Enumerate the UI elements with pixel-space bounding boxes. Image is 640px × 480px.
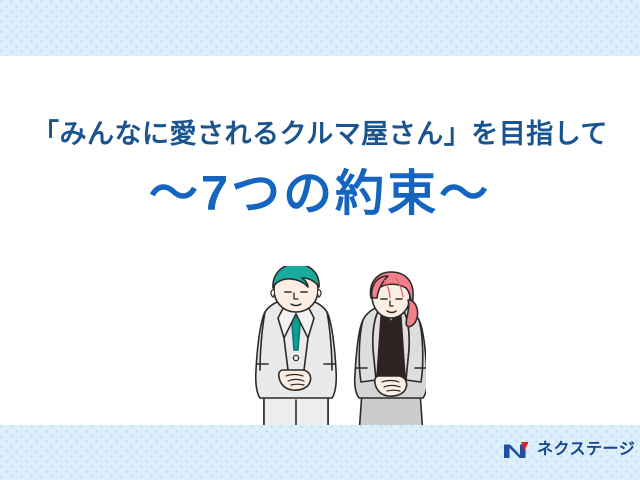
headline-secondary: 〜7つの約束〜	[0, 168, 640, 222]
nextage-n-mark-icon	[503, 440, 530, 460]
staff-illustration	[236, 266, 426, 442]
promise-banner: 「みんなに愛されるクルマ屋さん」を目指して 〜7つの約束〜	[0, 0, 640, 480]
nextage-logo: ネクステージ	[503, 440, 635, 460]
top-dotted-band	[0, 0, 640, 56]
female-staff-figure	[355, 272, 426, 442]
headline-block: 「みんなに愛されるクルマ屋さん」を目指して 〜7つの約束〜	[0, 118, 640, 222]
staff-illustration-graphic	[236, 266, 426, 442]
nextage-wordmark: ネクステージ	[537, 442, 635, 458]
headline-primary: 「みんなに愛されるクルマ屋さん」を目指して	[0, 118, 640, 150]
male-staff-figure	[256, 266, 337, 442]
